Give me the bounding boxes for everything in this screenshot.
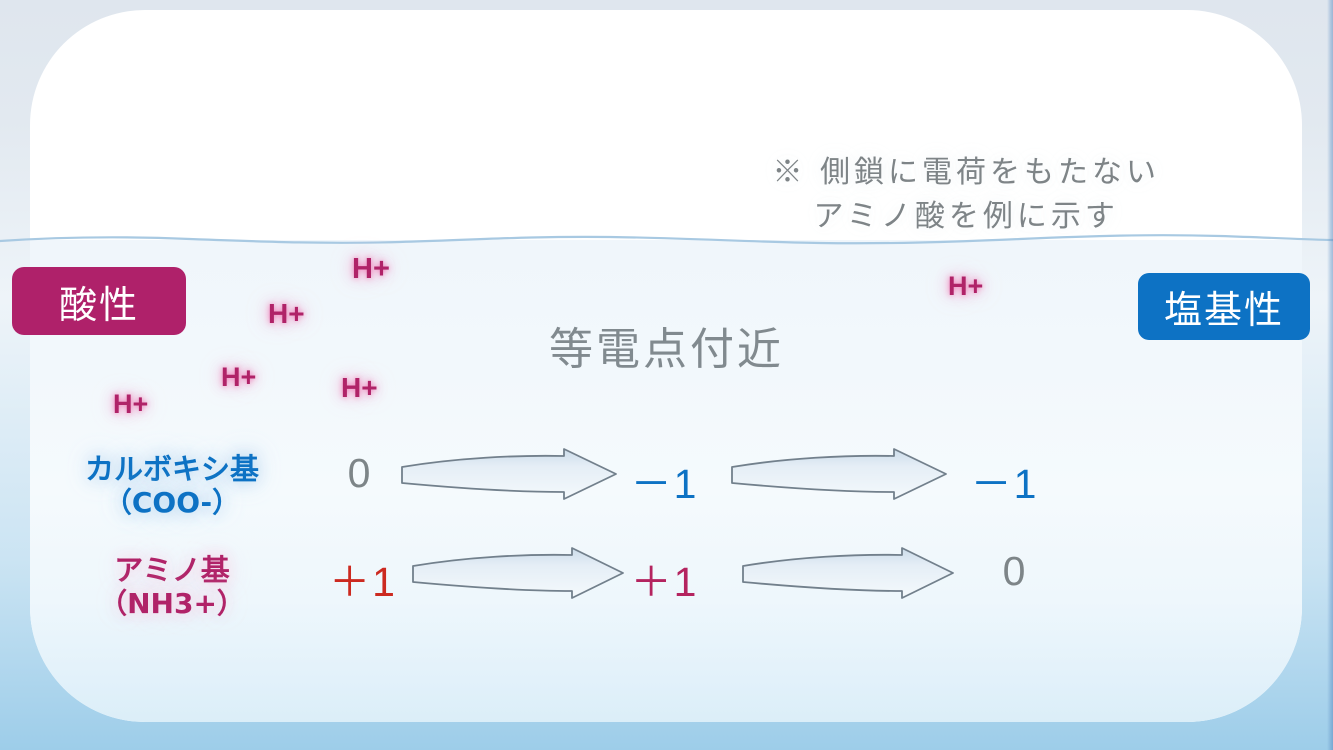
hplus-particle-3: H+ [948, 271, 983, 302]
note-line-1: ※ 側鎖に電荷をもたない [772, 151, 1160, 195]
charge-amino-basic: 0 [975, 548, 1055, 595]
hplus-particle-2: H+ [268, 298, 305, 330]
row-label-amino-main: アミノ基 [114, 553, 229, 587]
arrow-carboxy-1 [396, 447, 622, 508]
hplus-particle-5: H+ [341, 372, 378, 404]
row-label-carboxy-main: カルボキシ基 [85, 452, 259, 486]
slide-stage: ※ 側鎖に電荷をもたない アミノ酸を例に示す 酸性 塩基性 等電点付近 H+ H… [0, 0, 1333, 750]
isoelectric-point-title: 等電点付近 [0, 313, 1333, 377]
arrow-amino-2 [737, 546, 959, 607]
charge-amino-acidic: ＋1 [312, 548, 414, 608]
charge-carboxy-isoelectric: －1 [612, 450, 717, 510]
charge-carboxy-basic: －1 [952, 450, 1057, 510]
row-label-amino: アミノ基 （NH3+） [52, 553, 292, 620]
arrow-amino-1 [407, 546, 629, 607]
hplus-particle-4: H+ [221, 362, 256, 393]
note-line-2: アミノ酸を例に示す [772, 195, 1160, 239]
charge-amino-isoelectric: ＋1 [612, 548, 717, 608]
row-label-carboxy-sub: （COO-） [52, 486, 292, 519]
row-label-amino-sub: （NH3+） [52, 587, 292, 620]
side-chain-note: ※ 側鎖に電荷をもたない アミノ酸を例に示す [772, 151, 1160, 238]
arrow-carboxy-2 [726, 447, 952, 508]
row-label-carboxy: カルボキシ基 （COO-） [52, 452, 292, 519]
hplus-particle-6: H+ [113, 389, 148, 420]
hplus-particle-1: H+ [352, 253, 390, 286]
charge-carboxy-acidic: 0 [320, 450, 400, 497]
